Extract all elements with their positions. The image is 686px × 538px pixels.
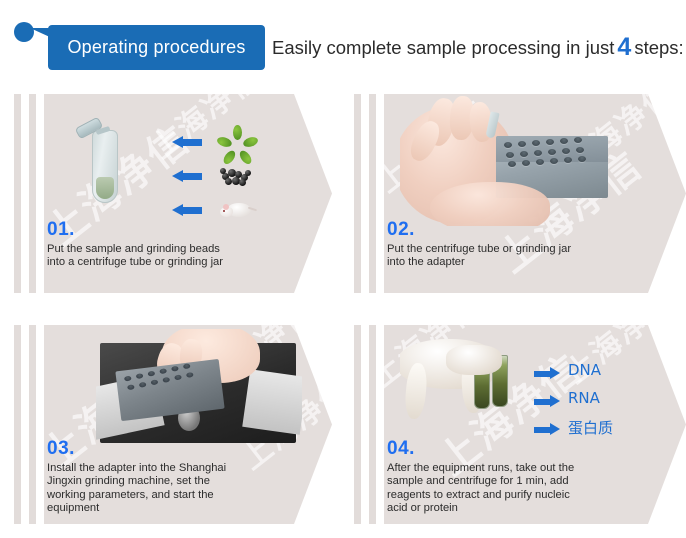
operating-procedures-badge-label: Operating procedures <box>48 25 265 70</box>
grinding-machine-photo <box>96 329 302 449</box>
header-subtitle-after: steps: <box>634 37 683 59</box>
output-label-protein: 蛋白质 <box>568 417 613 438</box>
step-card-02: 上海净信 上海净信 上海净信 <box>354 94 686 293</box>
card-accent-bar-inner <box>369 94 376 293</box>
step-01-number: 01. <box>47 220 223 240</box>
arrow-left-icon <box>172 170 202 183</box>
arrow-left-icon <box>172 204 202 217</box>
watermark: 上海净信 <box>554 325 682 392</box>
card-accent-bar-inner <box>29 325 36 524</box>
step-card-04: 上海净信 上海净信 上海净信 DNA RNA 蛋白质 04. After the… <box>354 325 686 524</box>
step-02-number: 02. <box>387 220 571 240</box>
header-step-count: 4 <box>614 33 634 62</box>
arrow-right-icon <box>534 423 560 435</box>
page-header: Operating procedures Easily complete sam… <box>0 0 686 82</box>
arrow-left-icon <box>172 136 202 149</box>
output-label-dna: DNA <box>568 361 601 379</box>
step-02-description: Put the centrifuge tube or grinding jar … <box>387 243 571 270</box>
card-accent-bar-left <box>354 325 361 524</box>
step-04-text-block: 04. After the equipment runs, take out t… <box>387 439 574 516</box>
grinding-beads-sample-icon <box>220 164 254 186</box>
step-03-number: 03. <box>47 439 226 459</box>
step-01-text-block: 01. Put the sample and grinding beads in… <box>47 220 223 270</box>
output-label-rna: RNA <box>568 389 600 407</box>
card-accent-bar-inner <box>369 325 376 524</box>
step-card-03: 上海净信 上海净信 上海净信 <box>14 325 332 524</box>
card-accent-bar-inner <box>29 94 36 293</box>
step-04-description: After the equipment runs, take out the s… <box>387 462 574 516</box>
step-card-01: 上海净信 上海净信 <box>14 94 332 293</box>
mouse-sample-icon <box>220 198 256 220</box>
centrifuge-tube-illustration <box>92 130 138 215</box>
card-accent-bar-left <box>14 94 21 293</box>
header-subtitle: Easily complete sample processing in jus… <box>272 25 684 70</box>
card-accent-bar-left <box>14 325 21 524</box>
step-03-text-block: 03. Install the adapter into the Shangha… <box>47 439 226 516</box>
step-02-text-block: 02. Put the centrifuge tube or grinding … <box>387 220 571 270</box>
arrow-right-icon <box>534 395 560 407</box>
gloved-hand-tubes-photo <box>400 335 540 443</box>
step-03-description: Install the adapter into the Shanghai Ji… <box>47 462 226 516</box>
header-subtitle-before: Easily complete sample processing in jus… <box>272 37 614 59</box>
leaf-sample-icon <box>222 128 252 154</box>
adapter-in-hand-photo <box>400 96 610 226</box>
card-accent-bar-left <box>354 94 361 293</box>
arrow-right-icon <box>534 367 560 379</box>
step-01-description: Put the sample and grinding beads into a… <box>47 243 223 270</box>
step-04-number: 04. <box>387 439 574 459</box>
